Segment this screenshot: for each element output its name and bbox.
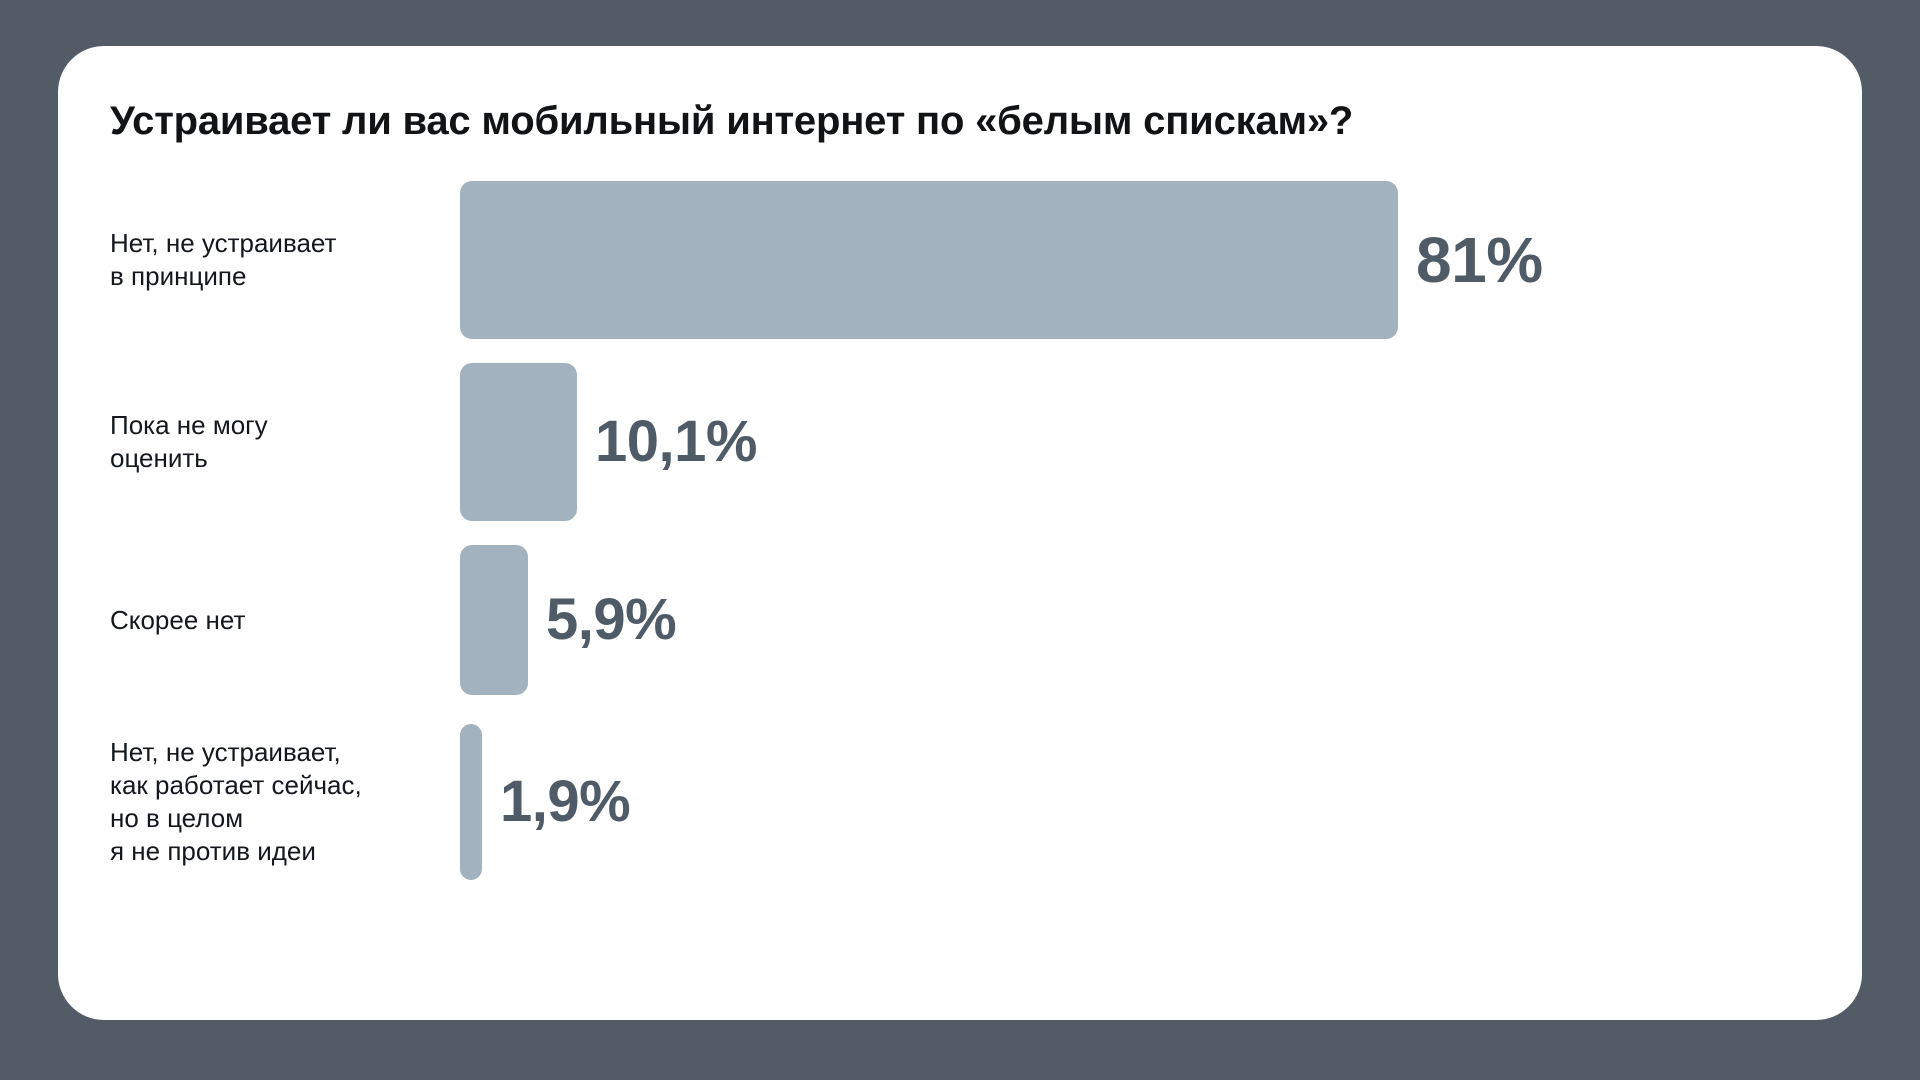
bar-track: 10,1% — [460, 353, 1802, 531]
category-label: Нет, не устраивает в принципе — [110, 227, 460, 294]
bar-segment — [460, 181, 1398, 339]
bar-value-label: 10,1% — [595, 413, 757, 471]
bar-chart: Нет, не устраивает в принципе 81% Пока н… — [110, 167, 1802, 895]
bar-track: 81% — [460, 167, 1802, 353]
category-label: Пока не могу оценить — [110, 409, 460, 476]
bar-value-label: 5,9% — [546, 591, 676, 649]
bar-segment — [460, 545, 528, 695]
category-label: Скорее нет — [110, 604, 460, 637]
bar-track: 1,9% — [460, 709, 1802, 895]
page-title: Устраивает ли вас мобильный интернет по … — [110, 98, 1802, 145]
bar-segment — [460, 724, 482, 880]
bar-value-label: 1,9% — [500, 773, 630, 831]
chart-row: Нет, не устраивает, как работает сейчас,… — [110, 709, 1802, 895]
slide-background: Устраивает ли вас мобильный интернет по … — [0, 0, 1920, 1080]
bar-segment — [460, 363, 577, 521]
chart-row: Скорее нет 5,9% — [110, 531, 1802, 709]
bar-track: 5,9% — [460, 531, 1802, 709]
chart-row: Нет, не устраивает в принципе 81% — [110, 167, 1802, 353]
bar-value-label: 81% — [1416, 228, 1543, 292]
chart-card: Устраивает ли вас мобильный интернет по … — [58, 46, 1862, 1020]
chart-row: Пока не могу оценить 10,1% — [110, 353, 1802, 531]
category-label: Нет, не устраивает, как работает сейчас,… — [110, 736, 460, 869]
